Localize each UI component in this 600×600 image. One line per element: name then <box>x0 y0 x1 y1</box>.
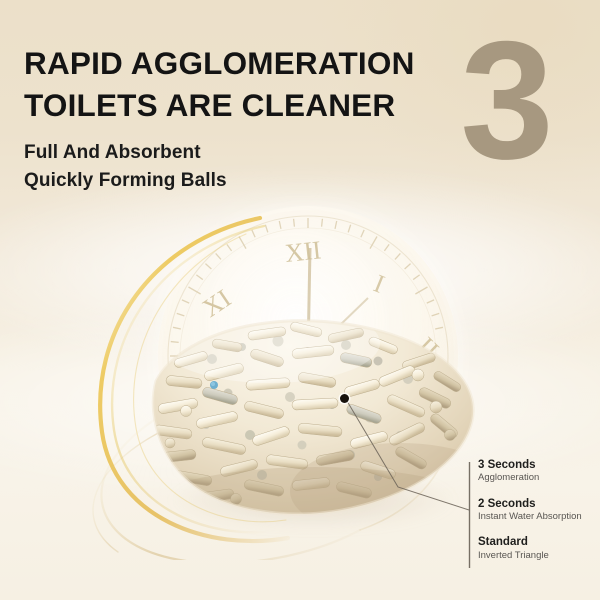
annotation-title: 2 Seconds <box>478 497 598 511</box>
product-feature-poster: 3 RAPID AGGLOMERATION TOILETS ARE CLEANE… <box>0 0 600 600</box>
annotation-title: 3 Seconds <box>478 458 598 472</box>
headline-line-1: RAPID AGGLOMERATION <box>24 43 444 85</box>
annotation-subtitle: Agglomeration <box>478 472 598 484</box>
annotation-title: Standard <box>478 535 598 549</box>
annotation-list: 3 Seconds Agglomeration 2 Seconds Instan… <box>478 458 598 562</box>
annotation-item-agglomeration: 3 Seconds Agglomeration <box>478 458 598 485</box>
subheadline-line-1: Full And Absorbent <box>24 139 227 167</box>
step-number: 3 <box>432 16 582 184</box>
svg-text:XII: XII <box>284 235 323 268</box>
subheadline-line-2: Quickly Forming Balls <box>24 167 227 195</box>
annotation-item-water-absorption: 2 Seconds Instant Water Absorption <box>478 497 598 524</box>
annotation-item-standard-shape: Standard Inverted Triangle <box>478 535 598 562</box>
annotation-subtitle: Inverted Triangle <box>478 550 598 562</box>
headline: RAPID AGGLOMERATION TOILETS ARE CLEANER <box>24 43 444 126</box>
pile-marker-dot <box>340 394 349 403</box>
subheadline: Full And Absorbent Quickly Forming Balls <box>24 139 227 194</box>
annotation-subtitle: Instant Water Absorption <box>478 511 598 523</box>
headline-line-2: TOILETS ARE CLEANER <box>24 85 444 127</box>
cat-litter-pile-photo <box>150 285 480 520</box>
